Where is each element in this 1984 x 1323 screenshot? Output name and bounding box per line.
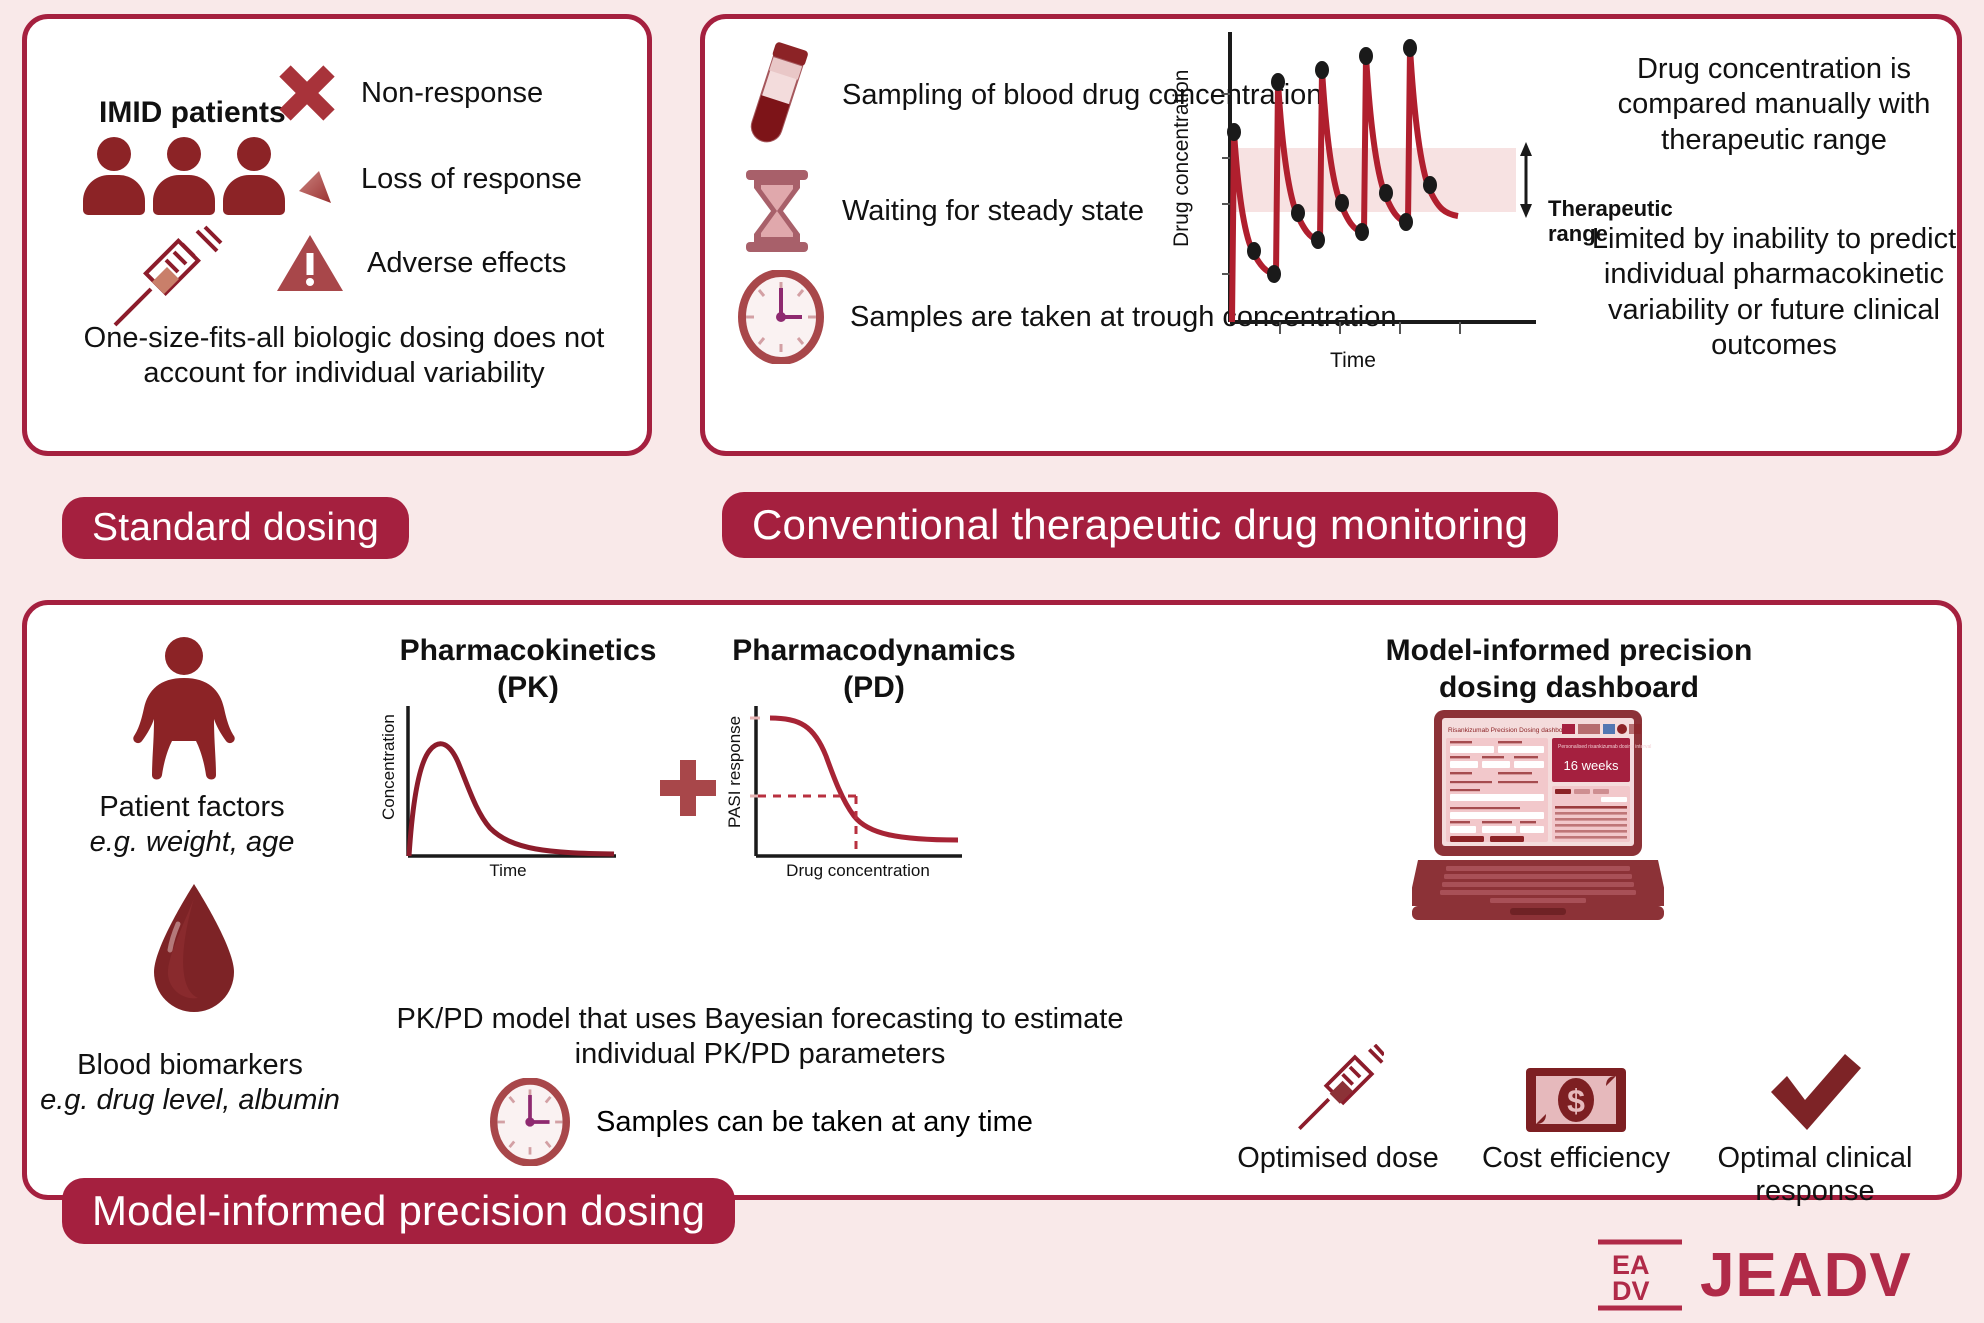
outcome-label: Optimal clinical response (1700, 1142, 1930, 1208)
checkmark-icon (1700, 1040, 1930, 1136)
dashboard-title-line2: dosing dashboard (1364, 670, 1774, 707)
blood-tube-icon (738, 40, 816, 150)
panel-standard-dosing: IMID patients (22, 14, 652, 456)
y-axis-label: PASI response (725, 716, 744, 828)
feature-label: Waiting for steady state (842, 194, 1144, 229)
dashboard-table-tabs (1555, 789, 1609, 794)
jeadv-wordmark: JEADV (1700, 1240, 1912, 1311)
blood-drop-icon (140, 880, 248, 1020)
dashboard-title: Model-informed precision dosing dashboar… (1364, 633, 1774, 706)
warning-triangle-icon (275, 231, 345, 295)
standard-dosing-caption: One-size-fits-all biologic dosing does n… (71, 321, 617, 392)
imid-patients-title: IMID patients (99, 95, 286, 132)
infographic-root: IMID patients (0, 0, 1984, 1323)
banner-standard-dosing: Standard dosing (62, 497, 409, 559)
patient-factors-examples: e.g. weight, age (42, 825, 342, 860)
dashboard-header-text: Risankizumab Precision Dosing dashboard (1448, 727, 1572, 734)
person-icon (83, 137, 145, 213)
outcome-label: Optimised dose (1228, 1142, 1448, 1175)
issue-label: Non-response (361, 77, 543, 110)
tdm-concentration-chart: Drug concentration Time (1168, 22, 1568, 382)
x-axis-label: Drug concentration (786, 861, 930, 880)
pd-response-chart: PASI response Drug concentration (722, 700, 968, 880)
issue-non-response: Non-response (275, 61, 543, 125)
issue-label: Adverse effects (367, 247, 566, 280)
therapeutic-range-band (1230, 148, 1516, 212)
down-arrow-icon (275, 147, 339, 211)
issue-adverse-effects: Adverse effects (275, 231, 566, 295)
issue-loss-of-response: Loss of response (275, 147, 582, 211)
pd-title-line1: Pharmacodynamics (724, 633, 1024, 670)
outcome-optimal-clinical-response: Optimal clinical response (1700, 1040, 1930, 1208)
jeadv-logo: EA DV JEADV (1594, 1236, 1912, 1314)
dashboard-result-value: 16 weeks (1564, 758, 1619, 773)
banknote-dollar-icon: $ (1466, 1040, 1686, 1136)
svg-text:$: $ (1567, 1083, 1585, 1119)
pkpd-model-description: PK/PD model that uses Bayesian forecasti… (390, 1002, 1130, 1073)
issue-label: Loss of response (361, 163, 582, 196)
pk-title-line1: Pharmacokinetics (378, 633, 678, 670)
outcome-label: Cost efficiency (1466, 1142, 1686, 1175)
pd-curve (770, 718, 958, 840)
blood-biomarkers-block: Blood biomarkers e.g. drug level, albumi… (20, 1048, 360, 1119)
anytime-sampling-label: Samples can be taken at any time (596, 1106, 1033, 1139)
pd-title: Pharmacodynamics (PD) (724, 633, 1024, 706)
svg-text:DV: DV (1612, 1276, 1650, 1306)
therapeutic-range-arrow (1520, 142, 1532, 218)
feature-steady-state: Waiting for steady state (738, 168, 1144, 254)
blood-biomarkers-examples: e.g. drug level, albumin (20, 1083, 360, 1118)
syringe-icon (105, 225, 235, 335)
feature-anytime-sampling: Samples can be taken at any time (490, 1078, 1033, 1166)
outcome-cost-efficiency: $ Cost efficiency (1466, 1040, 1686, 1175)
y-axis-label: Concentration (379, 714, 398, 820)
note-limitations: Limited by inability to predict individu… (1578, 222, 1970, 364)
clock-icon (738, 270, 824, 364)
banner-conventional-tdm: Conventional therapeutic drug monitoring (722, 492, 1558, 558)
eadv-monogram-icon: EA DV (1594, 1236, 1686, 1314)
laptop-trackpad-notch (1510, 908, 1566, 915)
cross-icon (275, 61, 339, 125)
dashboard-title-line1: Model-informed precision (1364, 633, 1774, 670)
pk-curve (409, 744, 614, 856)
pk-title: Pharmacokinetics (PK) (378, 633, 678, 706)
hourglass-icon (738, 168, 816, 254)
ec50-reference-lines (758, 796, 856, 854)
laptop-dashboard: Risankizumab Precision Dosing dashboard (1412, 708, 1664, 938)
pk-concentration-chart: Concentration Time (378, 700, 624, 880)
person-icon (153, 137, 215, 213)
dashboard-table-search (1601, 797, 1627, 802)
y-axis-label: Drug concentration (1170, 70, 1193, 247)
x-axis-label: Time (1330, 349, 1376, 372)
syringe-icon (1228, 1040, 1448, 1136)
note-compare-manually: Drug concentration is compared manually … (1578, 52, 1970, 158)
patient-body-icon (122, 636, 246, 786)
banner-mipd: Model-informed precision dosing (62, 1178, 735, 1244)
plus-icon (660, 760, 716, 816)
blood-biomarkers-title: Blood biomarkers (20, 1048, 360, 1083)
clock-icon (490, 1078, 570, 1166)
patient-factors-title: Patient factors (42, 790, 342, 825)
patient-factors-block: Patient factors e.g. weight, age (42, 790, 342, 861)
x-axis-label: Time (489, 861, 526, 880)
outcome-optimised-dose: Optimised dose (1228, 1040, 1448, 1175)
dashboard-result-banner-text: Personalised risankizumab dosing interva… (1558, 744, 1651, 750)
